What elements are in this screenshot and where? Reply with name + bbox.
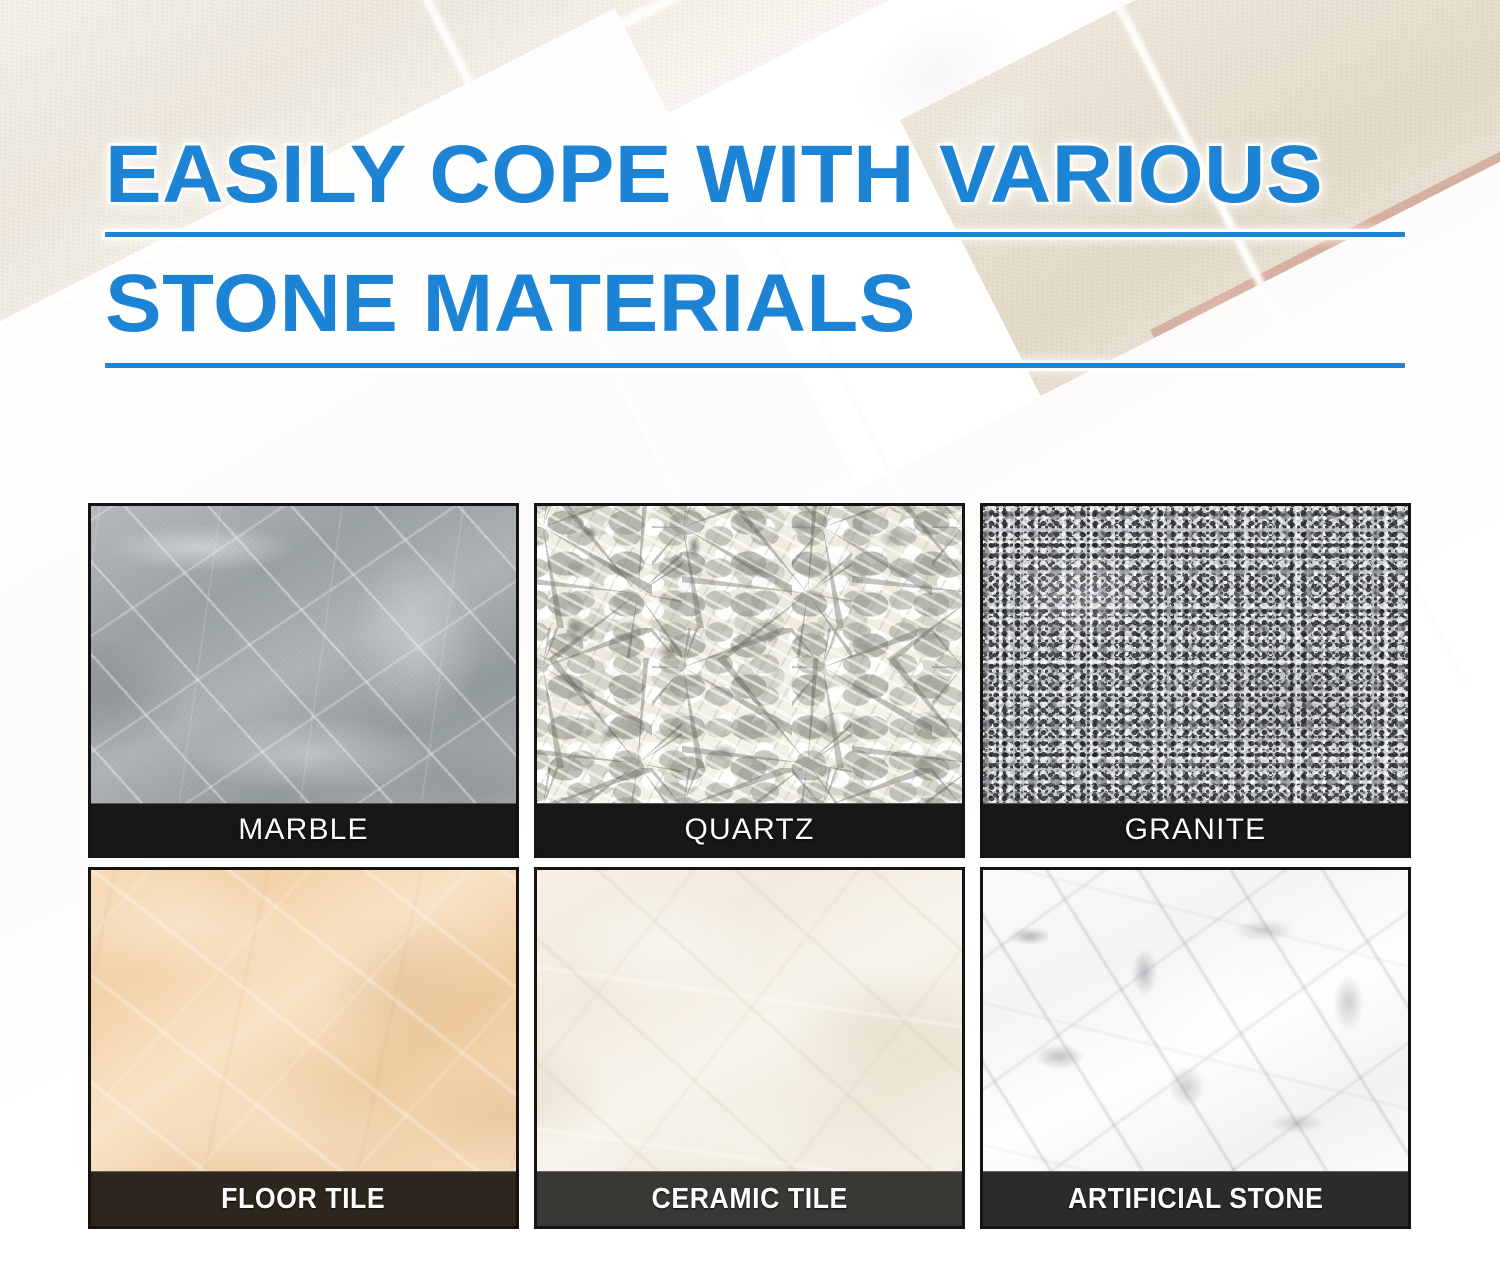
label-bar-granite: GRANITE xyxy=(983,803,1408,855)
label-bar-artificial-stone: ARTIFICIAL STONE xyxy=(983,1171,1408,1226)
headline-line-1-wrap: EASILY COPE WITH VARIOUS xyxy=(105,132,1435,237)
headline-line-2-wrap: STONE MATERIALS xyxy=(105,261,1435,368)
headline-line-2: STONE MATERIALS xyxy=(105,261,1482,347)
material-label-ceramic-tile: CERAMIC TILE xyxy=(651,1183,847,1216)
swatch-ceramic-tile xyxy=(537,870,962,1171)
material-card-floor-tile[interactable]: FLOOR TILE xyxy=(88,867,519,1229)
material-card-ceramic-tile[interactable]: CERAMIC TILE xyxy=(534,867,965,1229)
swatch-quartz xyxy=(537,506,962,803)
material-card-grid: MARBLE QUARTZ GRANITE xyxy=(88,503,1412,1270)
swatch-granite xyxy=(983,506,1408,803)
headline-underline-2 xyxy=(105,363,1405,368)
label-bar-floor-tile: FLOOR TILE xyxy=(91,1171,516,1226)
material-card-quartz[interactable]: QUARTZ xyxy=(534,503,965,858)
product-feature-banner: EASILY COPE WITH VARIOUS STONE MATERIALS… xyxy=(0,0,1500,1270)
material-label-granite: GRANITE xyxy=(1125,813,1267,847)
label-bar-marble: MARBLE xyxy=(91,803,516,855)
material-label-marble: MARBLE xyxy=(238,813,369,847)
headline-underline-1 xyxy=(105,232,1405,237)
swatch-marble xyxy=(91,506,516,803)
swatch-floor-tile xyxy=(91,870,516,1171)
material-card-artificial-stone[interactable]: ARTIFICIAL STONE xyxy=(980,867,1411,1229)
material-label-quartz: QUARTZ xyxy=(685,813,815,847)
material-label-floor-tile: FLOOR TILE xyxy=(221,1183,385,1216)
swatch-artificial-stone xyxy=(983,870,1408,1171)
headline-block: EASILY COPE WITH VARIOUS STONE MATERIALS xyxy=(105,132,1435,368)
material-card-marble[interactable]: MARBLE xyxy=(88,503,519,858)
label-bar-ceramic-tile: CERAMIC TILE xyxy=(537,1171,962,1226)
material-label-artificial-stone: ARTIFICIAL STONE xyxy=(1068,1183,1323,1216)
headline-line-1: EASILY COPE WITH VARIOUS xyxy=(105,132,1482,218)
label-bar-quartz: QUARTZ xyxy=(537,803,962,855)
material-card-granite[interactable]: GRANITE xyxy=(980,503,1411,858)
